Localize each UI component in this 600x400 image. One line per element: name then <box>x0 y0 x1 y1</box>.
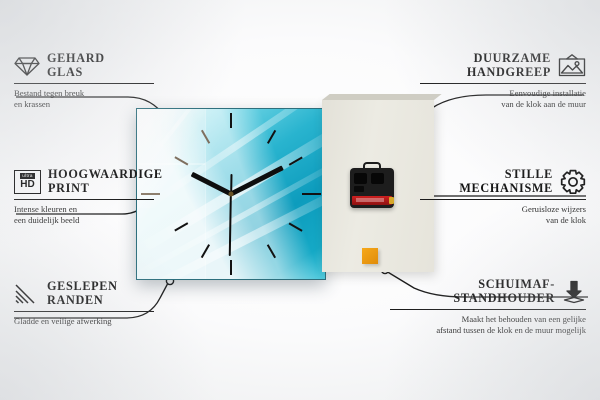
battery <box>352 196 392 205</box>
clock-hub <box>229 192 234 197</box>
clock-minute-hand <box>230 165 284 196</box>
hanging-loop-icon <box>363 162 381 173</box>
feature-description: Eenvoudige installatie van de klok aan d… <box>420 88 586 109</box>
foam-spacer <box>362 248 378 264</box>
feature-title: GEHARD GLAS <box>47 52 105 79</box>
feature-schuimafstandhouder: SCHUIMAF- STANDHOUDER Maakt het behouden… <box>390 278 586 335</box>
divider <box>14 199 154 200</box>
divider <box>420 83 586 84</box>
mechanism-slot <box>354 186 364 192</box>
clock-front-face <box>136 108 326 280</box>
clock-tick <box>230 260 232 275</box>
feature-title: SCHUIMAF- STANDHOUDER <box>453 278 555 305</box>
feature-description: Bestand tegen breuk en krassen <box>14 88 154 109</box>
gear-icon <box>560 169 586 194</box>
divider <box>14 311 154 312</box>
clock-mechanism <box>350 168 394 208</box>
picture-frame-icon <box>558 54 586 77</box>
glass-pane-reflection <box>137 109 205 163</box>
divider <box>420 199 586 200</box>
divider <box>390 309 586 310</box>
feature-title: HOOGWAARDIGE PRINT <box>48 168 163 195</box>
product-infographic: GEHARD GLAS Bestand tegen breuk en krass… <box>0 0 600 400</box>
feature-duurzame-handgreep: DUURZAME HANDGREEP Eenvoudige installati… <box>420 52 586 109</box>
battery-plus-terminal <box>389 197 394 204</box>
feature-description: Intense kleuren en een duidelijk beeld <box>14 204 154 225</box>
feature-hoogwaardige-print: ultra HD HOOGWAARDIGE PRINT Intense kleu… <box>14 168 154 225</box>
feature-title: DUURZAME HANDGREEP <box>467 52 551 79</box>
feature-description: Geruisloze wijzers van de klok <box>420 204 586 225</box>
feature-title: GESLEPEN RANDEN <box>47 280 118 307</box>
diamond-icon <box>14 55 40 77</box>
mechanism-slot <box>354 173 367 184</box>
clock-tick <box>302 193 321 196</box>
clock-tick <box>289 222 303 231</box>
clock-back-panel <box>322 100 434 272</box>
feature-description: Maakt het behouden van een gelijke afsta… <box>390 314 586 335</box>
feature-stille-mechanisme: STILLE MECHANISME Geruisloze wijzers van… <box>420 168 586 225</box>
glass-pane-line <box>137 163 205 164</box>
feature-geslepen-randen: GESLEPEN RANDEN Gladde en veilige afwerk… <box>14 280 154 327</box>
divider <box>14 83 154 84</box>
feature-gehard-glas: GEHARD GLAS Bestand tegen breuk en krass… <box>14 52 154 109</box>
ultra-hd-icon: ultra HD <box>14 170 41 194</box>
feature-description: Gladde en veilige afwerking <box>14 316 154 326</box>
clock-tick <box>267 244 276 258</box>
clock-tick <box>230 113 232 128</box>
polished-edges-icon <box>14 283 40 305</box>
battery-label <box>356 198 384 202</box>
spacer-arrow-icon <box>562 280 586 304</box>
mechanism-slot <box>371 173 384 184</box>
feature-title: STILLE MECHANISME <box>459 168 553 195</box>
ultra-hd-icon-main-label: HD <box>20 180 34 190</box>
clock-tick <box>267 130 276 144</box>
